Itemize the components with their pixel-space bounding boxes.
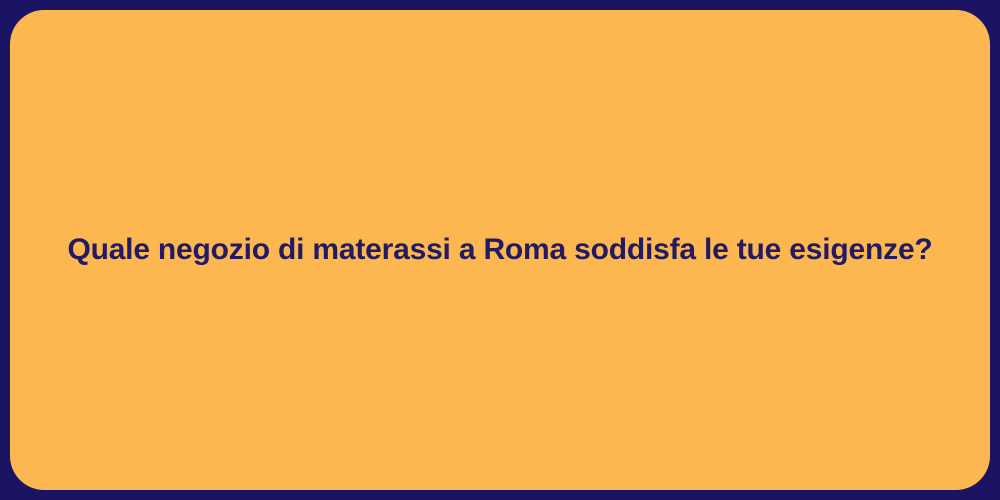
banner-card: Quale negozio di materassi a Roma soddis… [10, 10, 990, 490]
headline-text: Quale negozio di materassi a Roma soddis… [10, 231, 990, 269]
banner-background: Quale negozio di materassi a Roma soddis… [0, 0, 1000, 500]
